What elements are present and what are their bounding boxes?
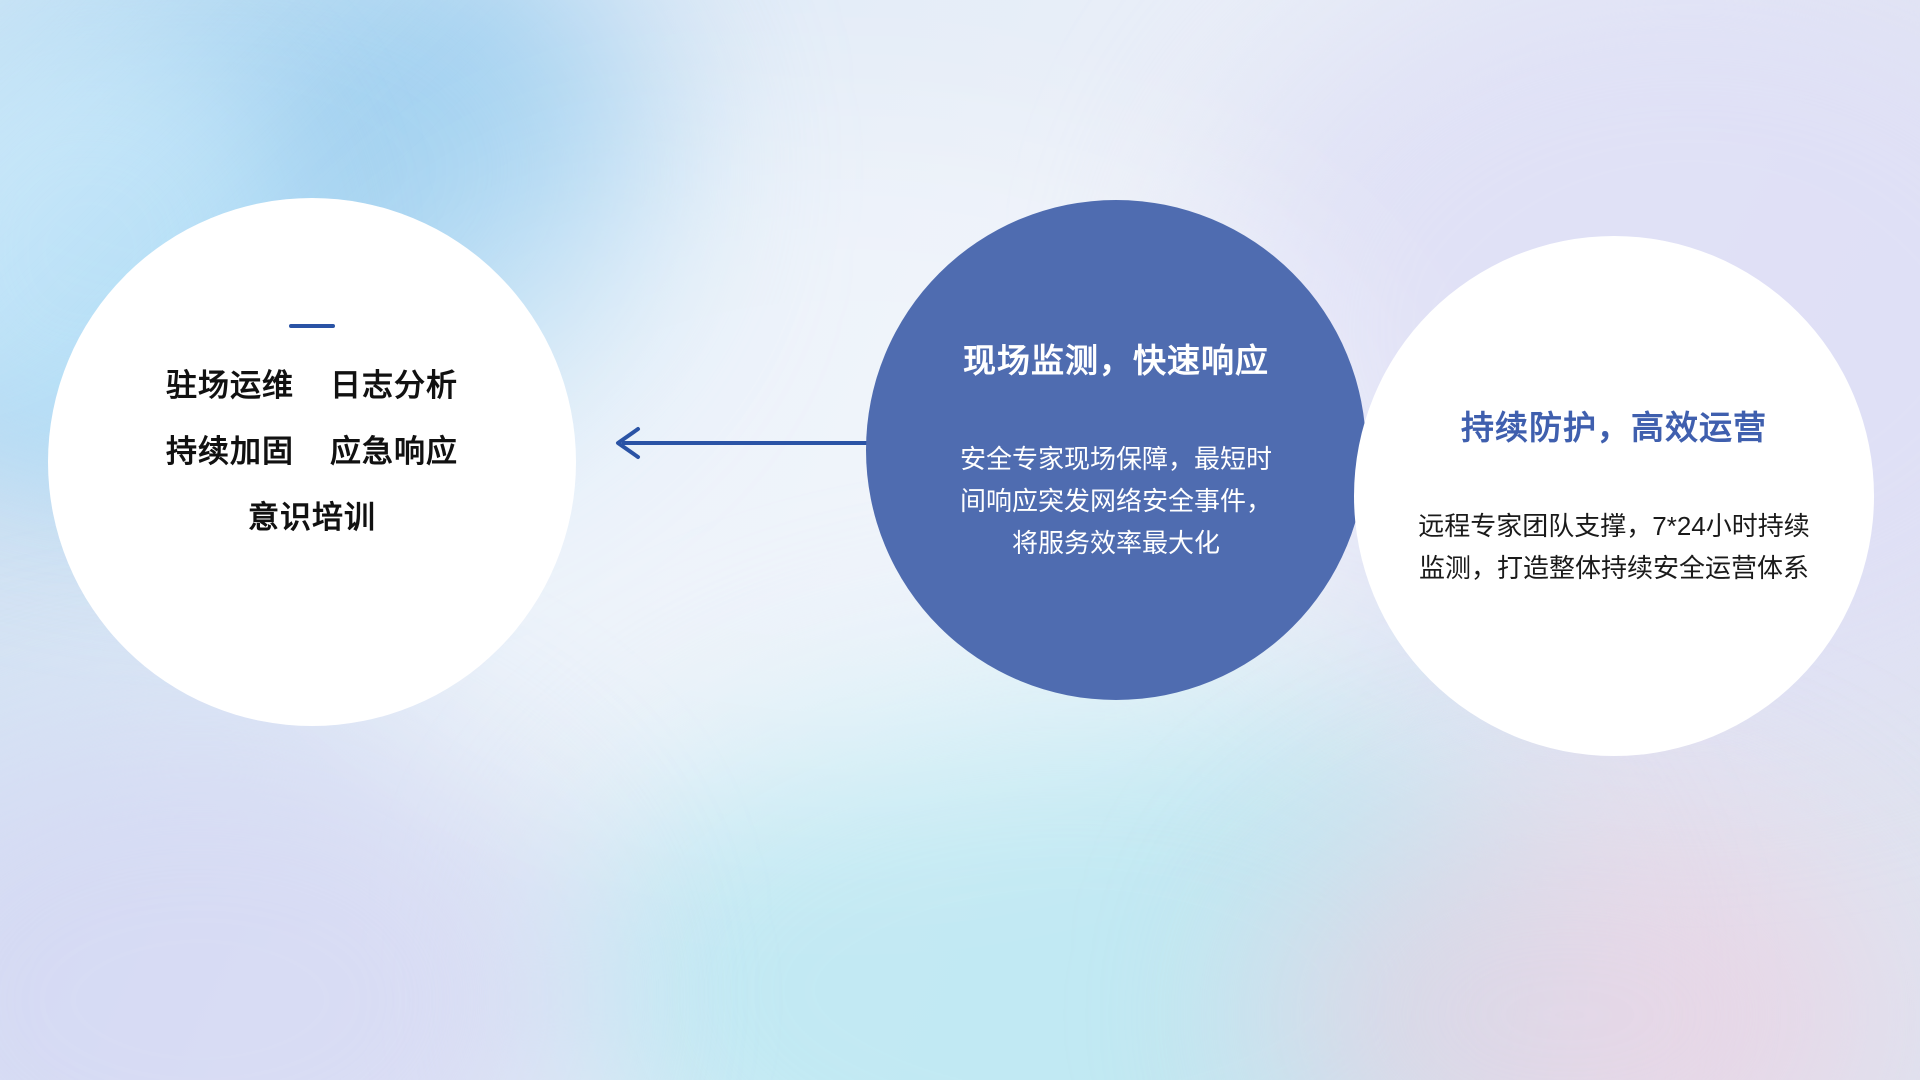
keyword-item: 日志分析 (330, 370, 458, 401)
onsite-monitoring-body: 安全专家现场保障，最短时间响应突发网络安全事件，将服务效率最大化 (951, 438, 1281, 564)
continuous-protection-title: 持续防护，高效运营 (1461, 409, 1767, 447)
keyword-item: 驻场运维 (166, 370, 294, 401)
title-divider-rule (289, 324, 335, 328)
keyword-item: 应急响应 (330, 436, 458, 467)
continuous-protection-circle[interactable]: 持续防护，高效运营 远程专家团队支撑，7*24小时持续监测，打造整体持续安全运营… (1354, 236, 1874, 756)
keyword-item: 意识培训 (248, 502, 376, 533)
continuous-protection-body: 远程专家团队支撑，7*24小时持续监测，打造整体持续安全运营体系 (1414, 505, 1814, 589)
onsite-monitoring-title: 现场监测，快速响应 (963, 342, 1269, 380)
connector-arrow (600, 418, 900, 468)
background-blob-teal-bottom (560, 670, 1580, 1080)
onsite-monitoring-circle[interactable]: 现场监测，快速响应 安全专家现场保障，最短时间响应突发网络安全事件，将服务效率最… (866, 200, 1366, 700)
capabilities-circle[interactable]: 驻场运维 日志分析 持续加固 应急响应 意识培训 (48, 198, 576, 726)
background-blob-pink-bottomright (1260, 800, 1880, 1080)
keyword-row-1: 驻场运维 日志分析 (166, 370, 458, 401)
keyword-row-2: 持续加固 应急响应 (166, 436, 458, 467)
background-blob-lavender-bottomleft (0, 720, 580, 1080)
keyword-item: 持续加固 (166, 436, 294, 467)
slide-canvas: 驻场运维 日志分析 持续加固 应急响应 意识培训 现场监测，快速响应 安全专家现… (0, 0, 1920, 1080)
keyword-row-3: 意识培训 (248, 502, 376, 533)
